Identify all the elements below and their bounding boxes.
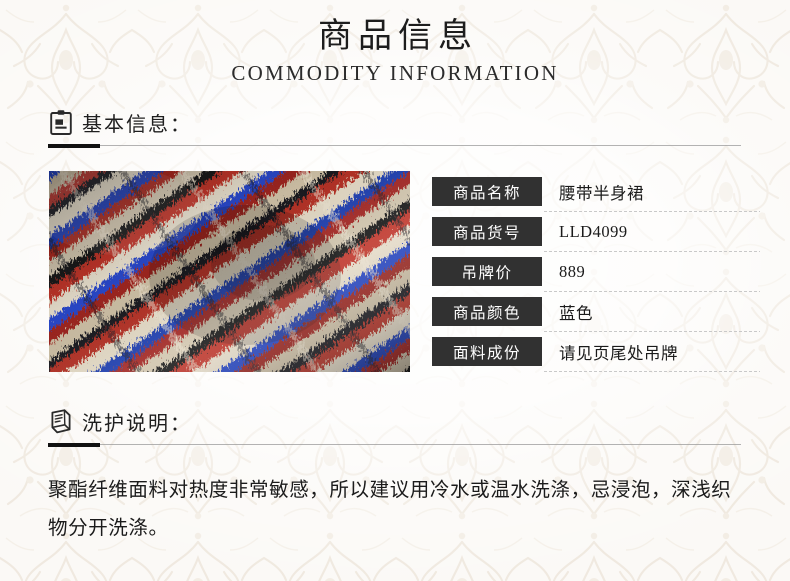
spec-label: 面料成份 <box>432 337 542 366</box>
spec-label: 商品名称 <box>432 177 542 206</box>
rule-thick-accent <box>48 144 100 148</box>
section-wash-care-header: 洗护说明： <box>0 407 790 436</box>
spec-label: 商品货号 <box>432 217 542 246</box>
table-row: 商品名称 腰带半身裙 <box>432 172 762 212</box>
fabric-photo <box>49 171 410 372</box>
spec-value: 蓝色 <box>542 300 593 324</box>
section-basic-info-header: 基本信息： <box>0 108 790 137</box>
section-basic-info-rule <box>48 144 741 148</box>
table-row: 商品货号 LLD4099 <box>432 212 762 252</box>
commodity-information-page: 商品信息 COMMODITY INFORMATION 基本信息： <box>0 0 790 581</box>
rule-thick-accent <box>48 443 100 447</box>
spec-value: 腰带半身裙 <box>542 180 644 204</box>
rule-thin-line <box>48 145 741 146</box>
section-wash-care: 洗护说明： 聚酯纤维面料对热度非常敏感，所以建议用冷水或温水洗涤，忌浸泡，深浅织… <box>0 407 790 547</box>
clipboard-icon <box>49 109 73 136</box>
spec-label: 商品颜色 <box>432 297 542 326</box>
section-wash-care-title: 洗护说明： <box>82 407 192 436</box>
spec-table: 商品名称 腰带半身裙 商品货号 LLD4099 吊牌价 889 商品颜色 蓝色 … <box>432 171 762 372</box>
rule-thin-line <box>48 444 741 445</box>
table-row: 面料成份 请见页尾处吊牌 <box>432 332 762 372</box>
spec-value: 889 <box>542 262 585 282</box>
page-title-en: COMMODITY INFORMATION <box>0 61 790 86</box>
table-row: 商品颜色 蓝色 <box>432 292 762 332</box>
section-basic-info-title: 基本信息： <box>82 108 192 137</box>
section-basic-info: 基本信息： <box>0 108 790 372</box>
section-wash-care-rule <box>48 443 741 447</box>
spec-value: LLD4099 <box>542 222 628 242</box>
basic-info-body: 商品名称 腰带半身裙 商品货号 LLD4099 吊牌价 889 商品颜色 蓝色 … <box>0 171 790 372</box>
document-lines-icon <box>49 408 73 435</box>
spec-value: 请见页尾处吊牌 <box>542 340 678 364</box>
page-title-cn: 商品信息 <box>0 16 790 59</box>
table-row: 吊牌价 889 <box>432 252 762 292</box>
page-header: 商品信息 COMMODITY INFORMATION <box>0 0 790 86</box>
spec-label: 吊牌价 <box>432 257 542 286</box>
wash-care-text: 聚酯纤维面料对热度非常敏感，所以建议用冷水或温水洗涤，忌浸泡，深浅织物分开洗涤。 <box>48 471 748 547</box>
